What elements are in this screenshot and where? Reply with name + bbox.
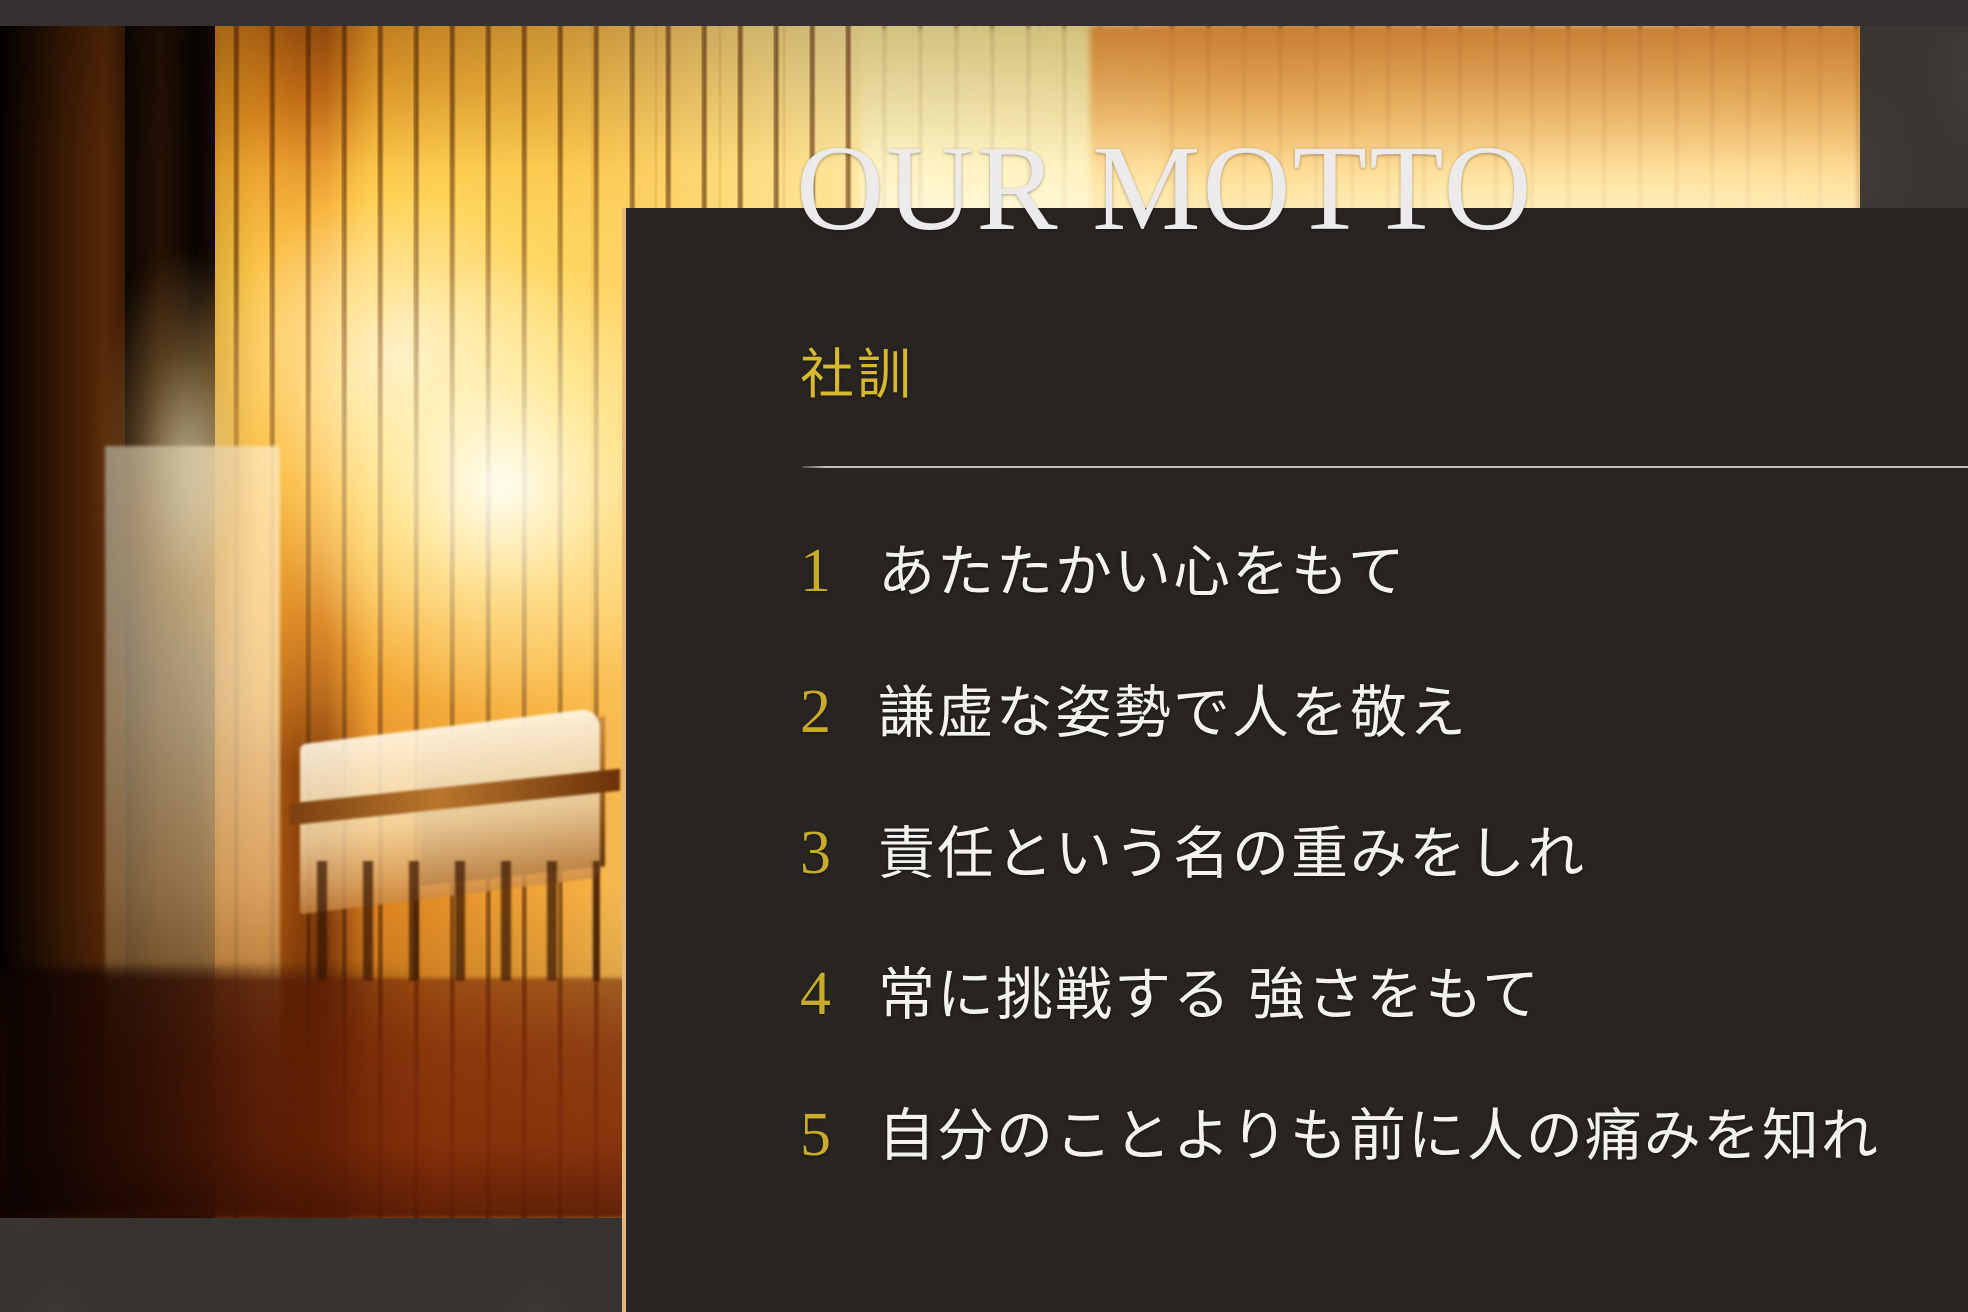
top-band (0, 0, 1968, 26)
list-item: 3 責任という名の重みをしれ (800, 822, 1960, 963)
list-item-text: 謙虚な姿勢で人を敬え (878, 685, 1468, 742)
motto-list: 1 あたたかい心をもて 2 謙虚な姿勢で人を敬え 3 責任という名の重みをしれ … (800, 540, 1960, 1245)
list-item-text: 責任という名の重みをしれ (878, 826, 1586, 883)
list-item-number: 2 (800, 681, 878, 743)
slide-canvas: OUR MOTTO 社訓 1 あたたかい心をもて 2 謙虚な姿勢で人を敬え 3 … (0, 0, 1968, 1312)
divider (802, 466, 1968, 468)
list-item: 5 自分のことよりも前に人の痛みを知れ (800, 1104, 1960, 1245)
list-item-number: 1 (800, 540, 878, 602)
list-item-number: 4 (800, 963, 878, 1025)
list-item-text: 自分のことよりも前に人の痛みを知れ (878, 1108, 1880, 1165)
list-item: 4 常に挑戦する 強さをもて (800, 963, 1960, 1104)
list-item: 2 謙虚な姿勢で人を敬え (800, 681, 1960, 822)
section-subtitle: 社訓 (800, 348, 914, 402)
list-item-number: 3 (800, 822, 878, 884)
list-item-text: 常に挑戦する 強さをもて (878, 967, 1541, 1024)
list-item: 1 あたたかい心をもて (800, 540, 1960, 681)
page-title: OUR MOTTO (796, 128, 1896, 250)
list-item-text: あたたかい心をもて (878, 544, 1407, 601)
list-item-number: 5 (800, 1104, 878, 1166)
